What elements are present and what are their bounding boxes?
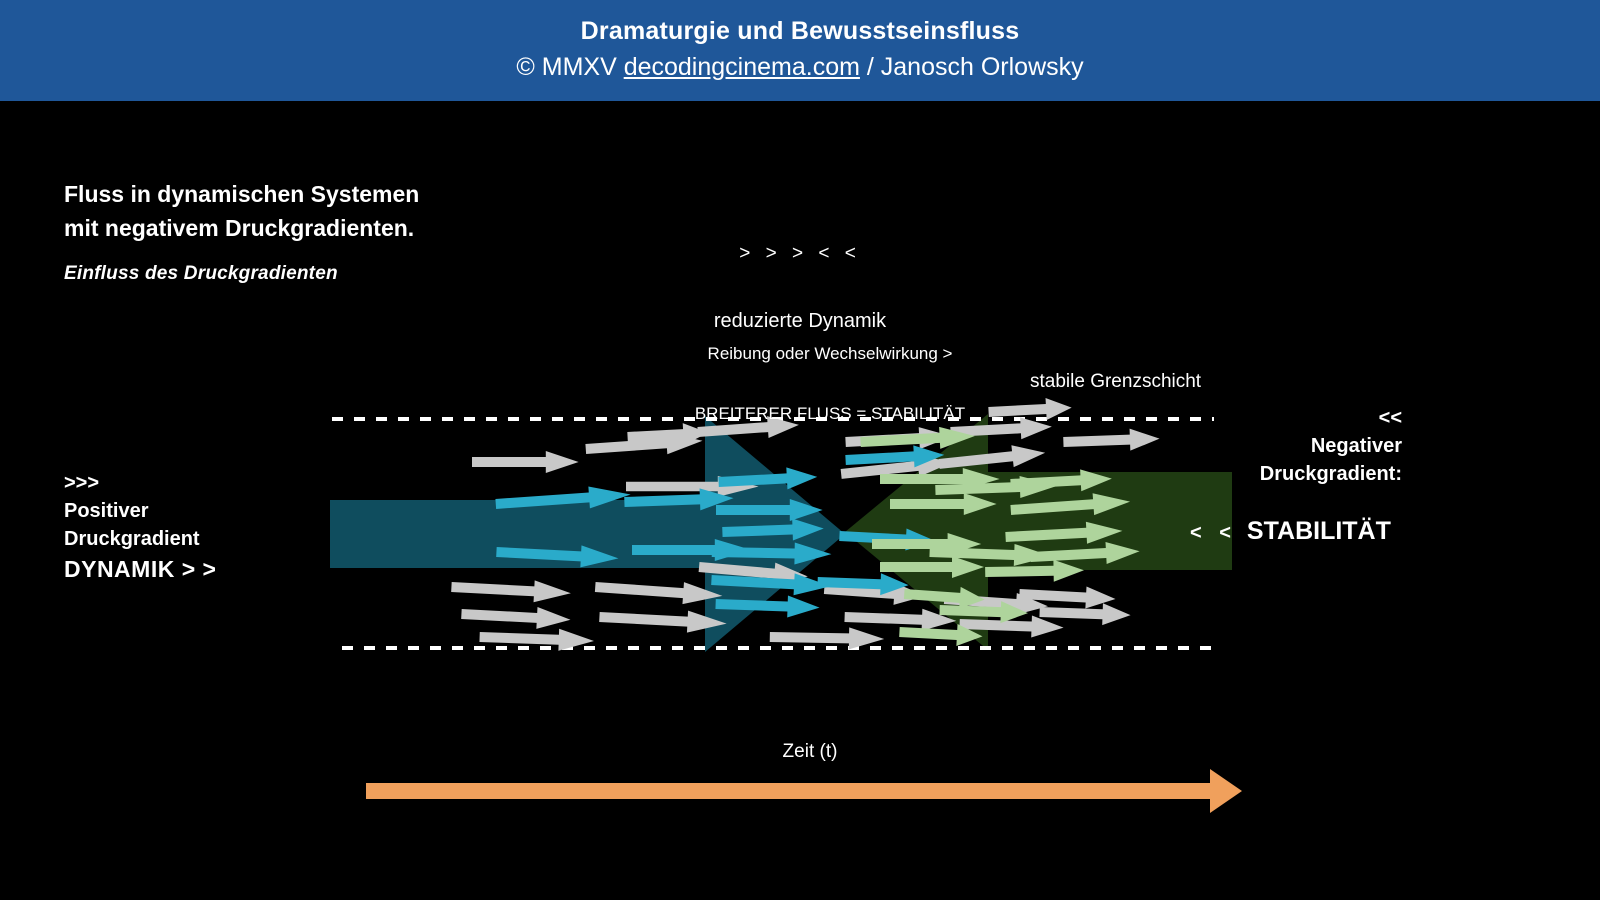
copyright-suffix: / Janosch Orlowsky: [860, 53, 1084, 81]
dynamik-emphasis: DYNAMIK > >: [64, 556, 216, 582]
friction-line-1: Reibung oder Wechselwirkung >: [0, 342, 1600, 366]
center-chevrons: > > > < <: [0, 243, 1600, 265]
header-title: Dramaturgie und Bewusstseinsfluss: [581, 16, 1020, 47]
copyright-prefix: © MMXV: [516, 53, 623, 81]
intro-line-1: Fluss in dynamischen Systemen: [64, 181, 419, 207]
negative-gradient-label: << Negativer Druckgradient:: [1222, 404, 1402, 488]
right-line-1: Negativer: [1311, 435, 1402, 457]
page-header: Dramaturgie und Bewusstseinsfluss © MMXV…: [0, 0, 1600, 101]
right-chevrons: <<: [1379, 407, 1402, 429]
stability-label: < <STABILITÄT: [1190, 517, 1391, 546]
time-axis-arrow: [366, 769, 1242, 813]
positive-gradient-label: >>> Positiver Druckgradient DYNAMIK > >: [64, 469, 216, 585]
header-credit: © MMXV decodingcinema.com / Janosch Orlo…: [516, 51, 1083, 85]
left-line-2: Druckgradient: [64, 528, 200, 550]
left-chevrons: >>>: [64, 472, 99, 494]
stability-chevrons: < <: [1190, 522, 1237, 544]
site-url-link[interactable]: decodingcinema.com: [624, 53, 860, 81]
stability-word: STABILITÄT: [1247, 517, 1391, 545]
diagram-stage: Fluss in dynamischen Systemen mit negati…: [0, 101, 1600, 900]
left-line-1: Positiver: [64, 500, 148, 522]
boundary-layer-label: stabile Grenzschicht: [1030, 371, 1201, 393]
right-line-2: Druckgradient:: [1260, 463, 1402, 485]
time-axis-label: Zeit (t): [0, 741, 1600, 763]
